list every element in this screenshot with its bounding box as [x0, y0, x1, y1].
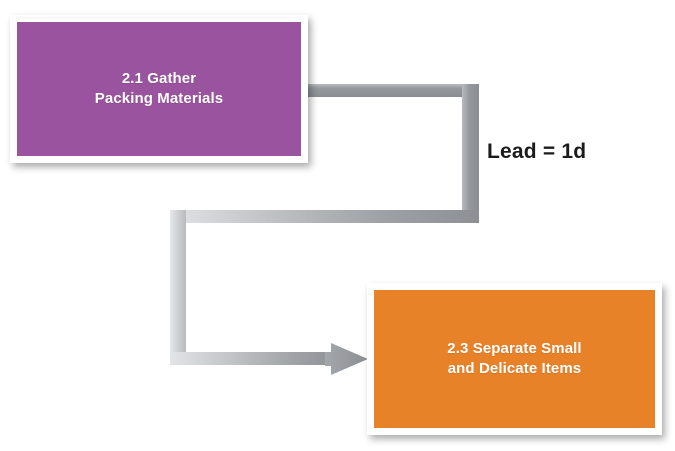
process-node-gather-label: 2.1 Gather Packing Materials: [87, 69, 231, 109]
diagram-canvas: 2.1 Gather Packing Materials 2.3 Separat…: [0, 0, 675, 451]
process-node-gather-packing-materials[interactable]: 2.1 Gather Packing Materials: [10, 15, 308, 163]
connector-segment-middle: [170, 210, 479, 223]
lead-time-annotation: Lead = 1d: [487, 140, 586, 164]
connector-arrowhead-icon: [325, 343, 368, 375]
process-node-separate-label: 2.3 Separate Small and Delicate Items: [439, 339, 589, 379]
connector-segment-bottom: [170, 352, 335, 365]
process-node-separate-small-delicate-items[interactable]: 2.3 Separate Small and Delicate Items: [367, 283, 662, 435]
connector-segment-left-vertical: [170, 210, 186, 358]
connector-segment-right-vertical: [462, 84, 479, 223]
connector-segment-top: [305, 84, 479, 97]
